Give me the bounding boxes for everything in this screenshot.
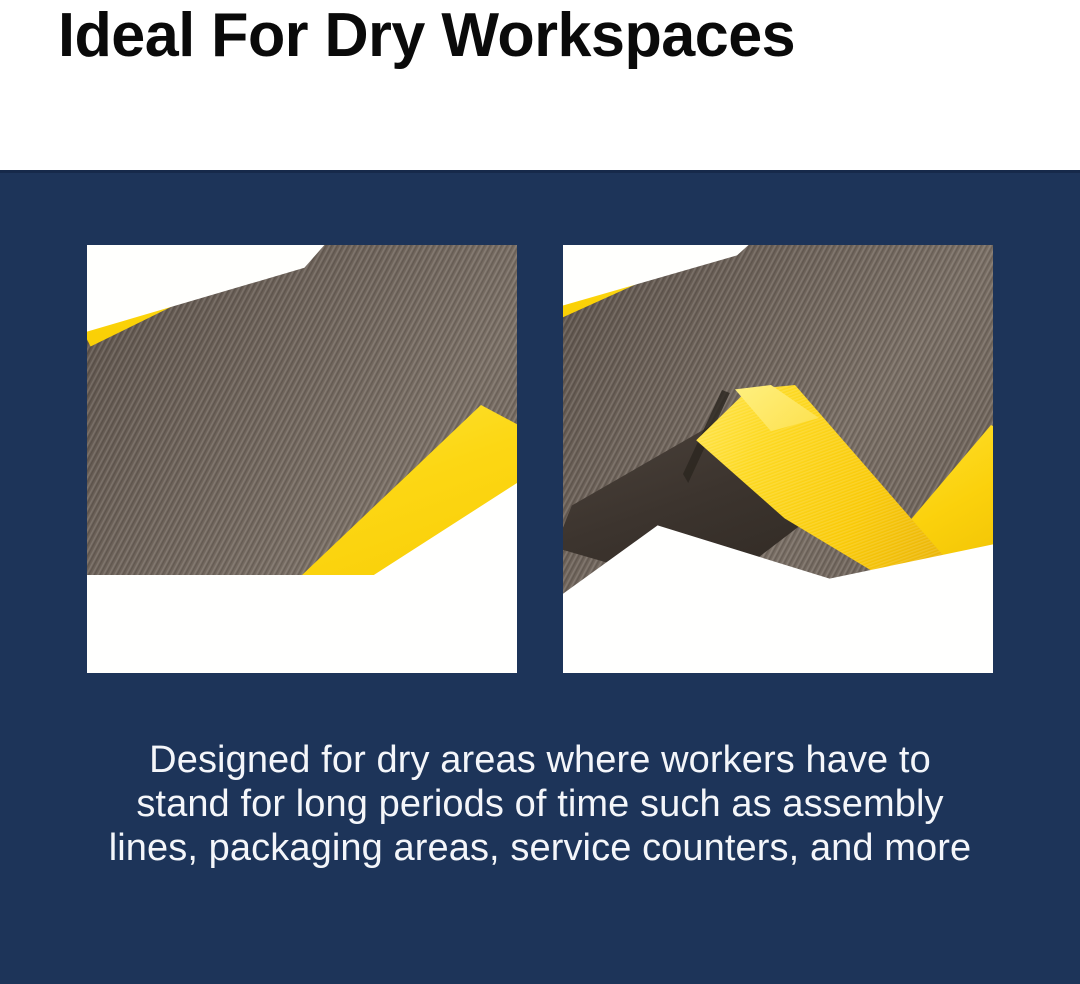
product-feature-page: Ideal For Dry Workspaces (0, 0, 1080, 984)
photo-backdrop-bottom-fill (87, 575, 517, 673)
feature-panel: Designed for dry areas where workers hav… (0, 170, 1080, 984)
photo-stage-left (87, 245, 517, 673)
caption-line-1: Designed for dry areas where workers hav… (60, 738, 1020, 782)
caption-line-2: stand for long periods of time such as a… (60, 782, 1020, 826)
product-image-folded-corner[interactable] (563, 245, 993, 673)
page-title: Ideal For Dry Workspaces (58, 0, 1013, 74)
caption-line-3: lines, packaging areas, service counters… (60, 826, 1020, 870)
photo-backdrop-bottom-fill (563, 597, 993, 673)
header-band: Ideal For Dry Workspaces (0, 0, 1080, 170)
feature-caption: Designed for dry areas where workers hav… (60, 738, 1020, 870)
photo-stage-right (563, 245, 993, 673)
product-image-flat-corner[interactable] (87, 245, 517, 673)
